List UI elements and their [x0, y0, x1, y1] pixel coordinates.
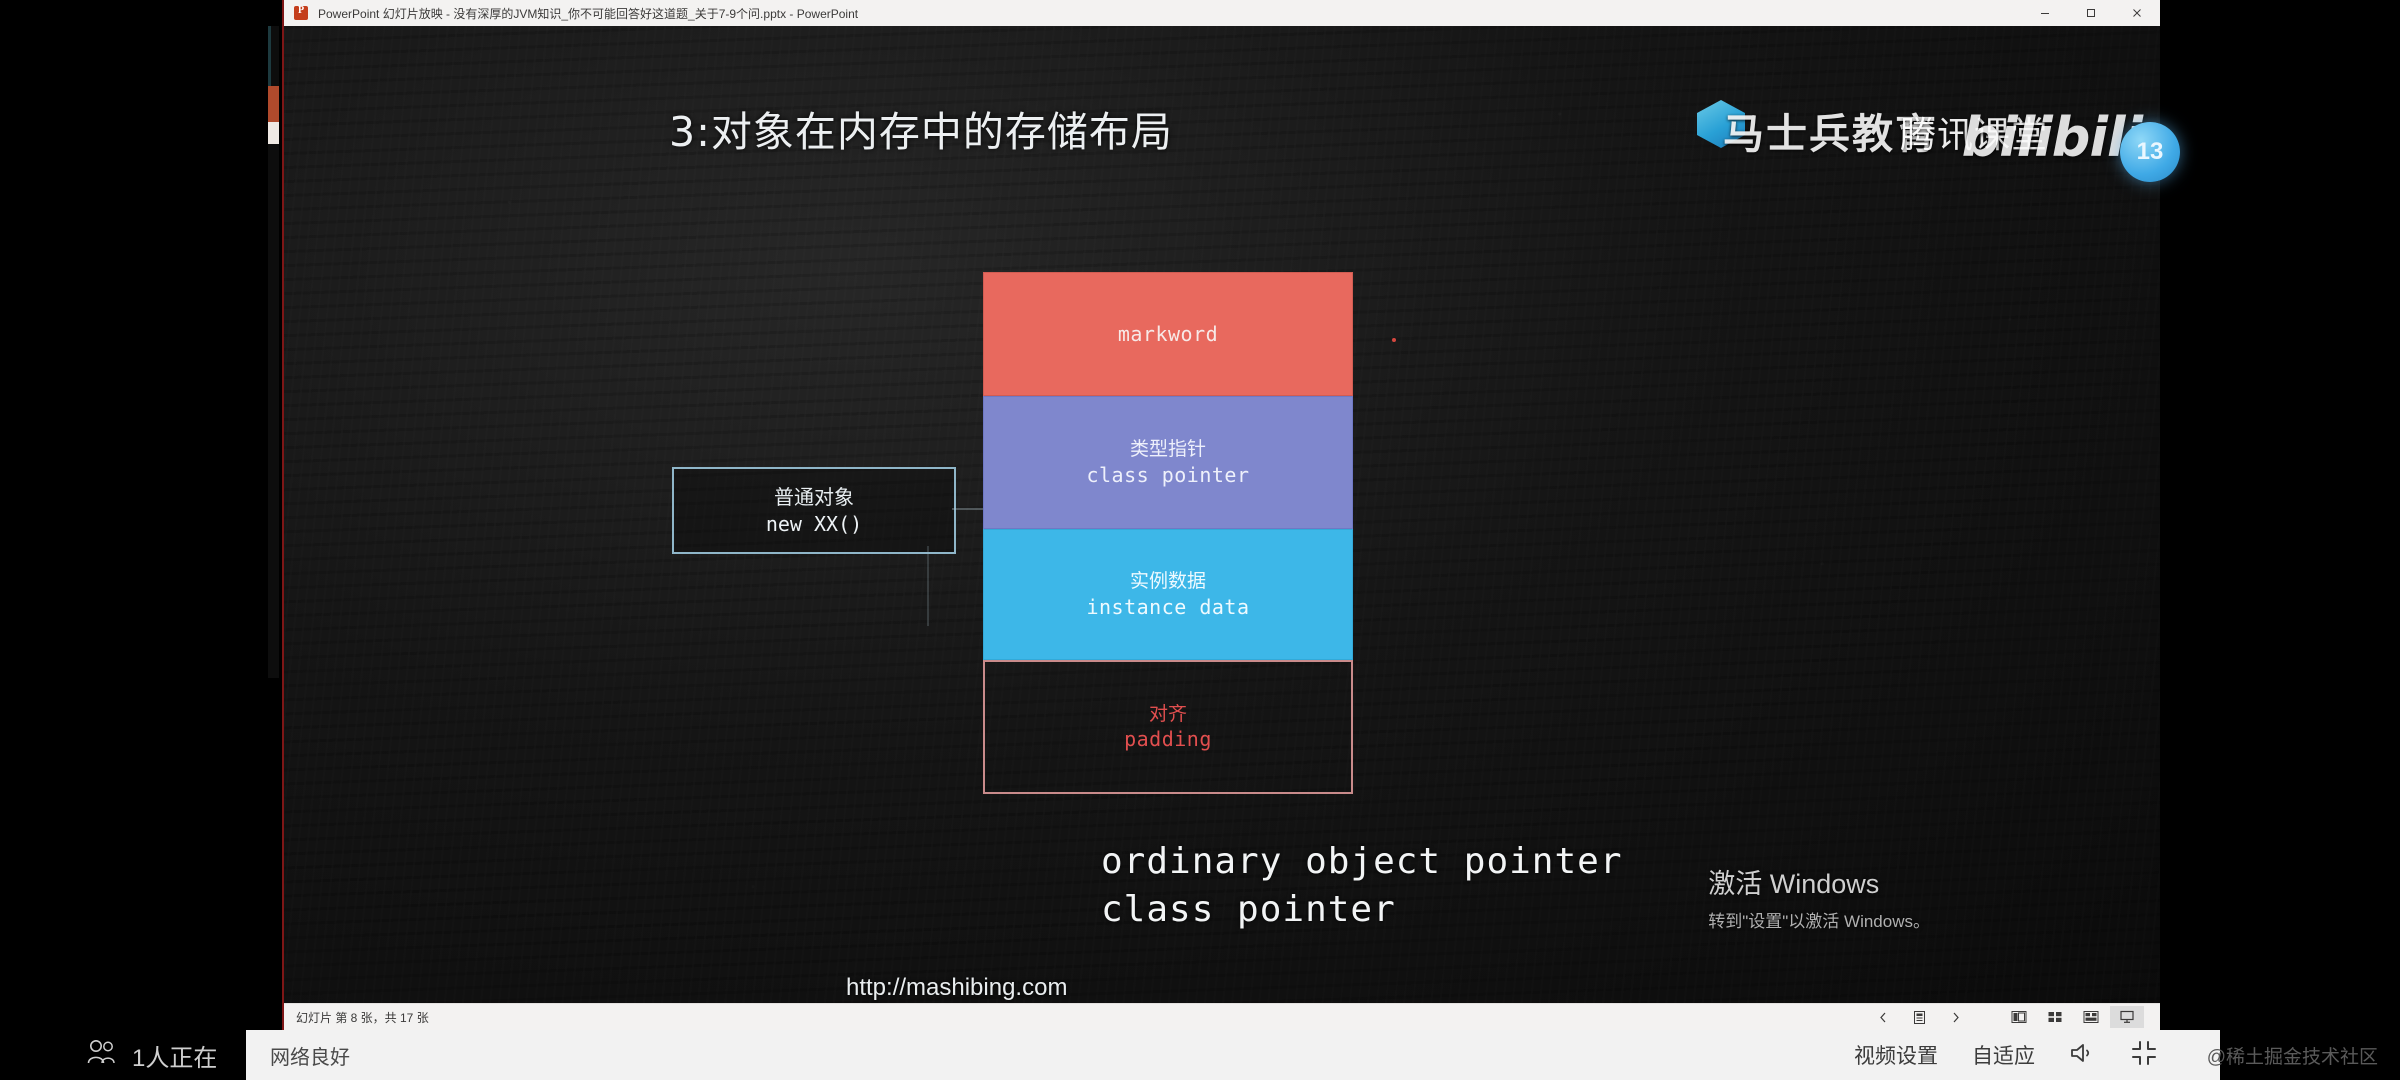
next-slide-icon[interactable]: [1938, 1006, 1972, 1028]
edge-strip-segment-white: [268, 122, 279, 144]
ordinary-object-label-cn: 普通对象: [774, 484, 854, 511]
exit-fullscreen-icon[interactable]: [2131, 1040, 2157, 1071]
video-settings-button[interactable]: 视频设置: [1854, 1040, 1938, 1070]
memory-block-padding: 对齐 padding: [983, 660, 1353, 794]
padding-label-en: padding: [1124, 726, 1212, 752]
memory-block-instance-data: 实例数据 instance data: [983, 529, 1353, 660]
previous-slide-icon[interactable]: [1866, 1006, 1900, 1028]
oop-line-2: class pointer: [1101, 886, 1623, 934]
connector-line: [952, 508, 984, 510]
watermark-group: 马士兵教育 腾讯课堂 bilibili: [1504, 62, 2144, 134]
site-url: http://mashibing.com: [846, 974, 1067, 1002]
viewer-count-text: 1人正在: [132, 1038, 217, 1073]
ordinary-object-label-en: new XX(): [766, 511, 862, 538]
right-gutter: [2160, 0, 2400, 1080]
player-controls: 视频设置 自适应: [1820, 1030, 2220, 1080]
slide-show-icon[interactable]: [2110, 1006, 2144, 1028]
network-status-text: 网络良好: [270, 1041, 350, 1070]
activation-line-2: 转到"设置"以激活 Windows。: [1708, 907, 1930, 932]
instance-data-label-en: instance data: [1086, 594, 1249, 620]
oop-caption: ordinary object pointer class pointer: [1101, 838, 1623, 934]
reading-view-icon[interactable]: [2074, 1006, 2108, 1028]
title-bar: PowerPoint 幻灯片放映 - 没有深厚的JVM知识_你不可能回答好这道题…: [284, 0, 2160, 27]
slide-canvas[interactable]: 3:对象在内存中的存储布局 普通对象 new XX() markword 类型指…: [284, 26, 2160, 1004]
padding-label-cn: 对齐: [1149, 702, 1187, 727]
memory-block-markword: markword: [983, 272, 1353, 396]
source-credit: @稀土掘金技术社区: [2207, 1030, 2378, 1080]
powerpoint-window: PowerPoint 幻灯片放映 - 没有深厚的JVM知识_你不可能回答好这道题…: [284, 0, 2160, 1030]
screen-root: PowerPoint 幻灯片放映 - 没有深厚的JVM知识_你不可能回答好这道题…: [0, 0, 2400, 1080]
notes-icon[interactable]: [1902, 1006, 1936, 1028]
viewer-indicator: 1人正在: [86, 1030, 217, 1080]
annotation-dot: [1392, 338, 1396, 342]
markword-label-en: markword: [1118, 321, 1218, 347]
slide-counter: 幻灯片 第 8 张，共 17 张: [296, 1009, 429, 1026]
connector-elbow: [927, 546, 929, 626]
people-icon: [86, 1039, 120, 1072]
network-status-panel: 网络良好: [246, 1030, 1820, 1080]
class-pointer-label-en: class pointer: [1086, 462, 1249, 488]
slide-sorter-icon[interactable]: [2038, 1006, 2072, 1028]
window-controls: [2022, 0, 2160, 26]
memory-layout-stack: markword 类型指针 class pointer 实例数据 instanc…: [983, 272, 1353, 794]
speaker-icon[interactable]: [2069, 1041, 2097, 1070]
slide-title: 3:对象在内存中的存储布局: [669, 98, 1173, 158]
status-bar-buttons: [1866, 1006, 2144, 1028]
instance-data-label-cn: 实例数据: [1130, 569, 1206, 594]
ordinary-object-box: 普通对象 new XX(): [672, 467, 956, 554]
window-title: PowerPoint 幻灯片放映 - 没有深厚的JVM知识_你不可能回答好这道题…: [318, 5, 2022, 22]
close-icon[interactable]: [2114, 0, 2160, 26]
memory-block-class-pointer: 类型指针 class pointer: [983, 396, 1353, 529]
maximize-icon[interactable]: [2068, 0, 2114, 26]
player-bar: 1人正在 网络良好 视频设置 自适应 @: [0, 1030, 2400, 1080]
oop-line-1: ordinary object pointer: [1101, 838, 1623, 886]
class-pointer-label-cn: 类型指针: [1130, 437, 1206, 462]
powerpoint-icon: [294, 6, 308, 20]
normal-view-icon[interactable]: [2002, 1006, 2036, 1028]
powerpoint-status-bar: 幻灯片 第 8 张，共 17 张: [284, 1003, 2160, 1030]
minimize-icon[interactable]: [2022, 0, 2068, 26]
windows-activation-watermark: 激活 Windows 转到"设置"以激活 Windows。: [1708, 862, 1930, 932]
video-edge-strip: [268, 26, 279, 678]
watermark-bilibili: bilibili: [1962, 106, 2142, 169]
activation-line-1: 激活 Windows: [1708, 862, 1930, 901]
edge-strip-segment-red: [268, 86, 279, 122]
left-gutter: [0, 0, 284, 1080]
quality-button[interactable]: 自适应: [1972, 1040, 2035, 1070]
viewer-count-badge[interactable]: 13: [2120, 122, 2180, 182]
edge-strip-segment-teal: [268, 26, 271, 88]
